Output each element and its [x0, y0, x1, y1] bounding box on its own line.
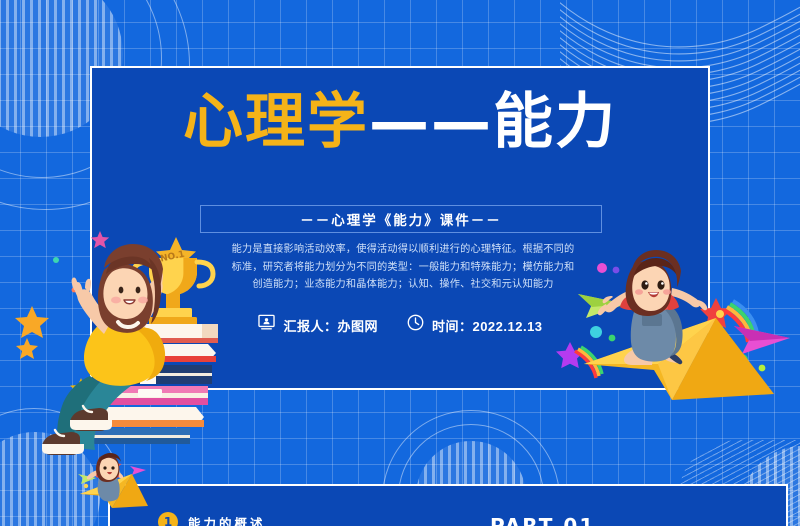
clock-icon	[406, 313, 425, 337]
presenter-label: 汇报人：办图网	[283, 316, 378, 335]
section-label: 能力的概述	[188, 513, 266, 526]
subtitle-box: －－心理学《能力》课件－－	[200, 205, 602, 233]
date-label: 时间：2022.12.13	[432, 316, 543, 335]
part-label: PART 01	[490, 514, 595, 526]
presenter-icon	[257, 313, 276, 337]
presenter-meta-item: 汇报人：办图网	[257, 313, 378, 337]
page-title: 心理学——能力	[92, 92, 708, 152]
title-gold-segment: 心理学	[183, 87, 369, 157]
child-on-paper-plane-illustration	[74, 452, 150, 508]
title-white-segment: ——能力	[369, 87, 617, 157]
bottom-section-panel: 1 能力的概述 PART 01	[108, 484, 788, 526]
girl-on-books-with-trophy-illustration: NO.1	[18, 228, 233, 453]
slide-canvas: 心理学——能力 －－心理学《能力》课件－－ 能力是直接影响活动效率，使得活动得以…	[0, 0, 800, 526]
girl-on-paper-plane-illustration	[566, 252, 798, 414]
section-item-overview[interactable]: 1 能力的概述	[158, 512, 266, 526]
date-meta-item: 时间：2022.12.13	[406, 313, 543, 337]
subtitle-text: －－心理学《能力》课件－－	[300, 209, 502, 229]
body-paragraph: 能力是直接影响活动效率，使得活动得以顺利进行的心理特征。根据不同的标准，研究者将…	[227, 241, 579, 294]
section-number-badge: 1	[158, 512, 178, 526]
